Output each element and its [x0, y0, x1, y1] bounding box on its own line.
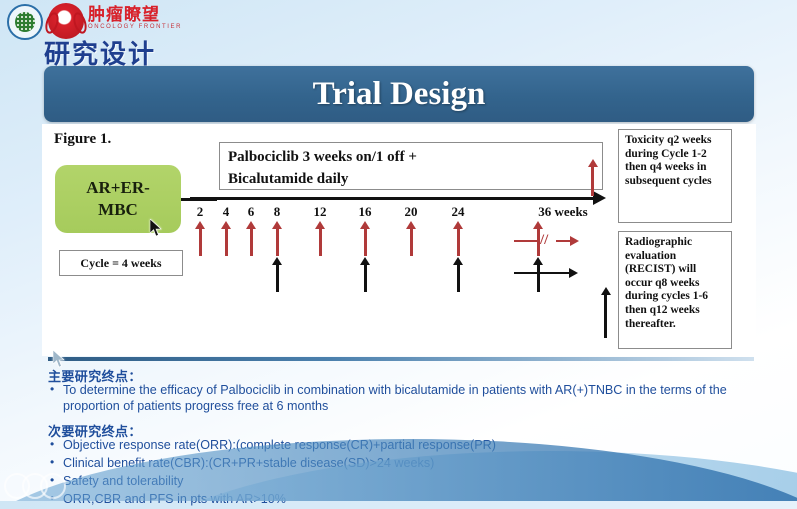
red-break-line-left [514, 240, 540, 242]
timeline-red-arrow [364, 228, 367, 256]
radiographic-assessment-box: Radiographic evaluation (RECIST) will oc… [618, 231, 732, 349]
timeline-break-symbol: // [540, 232, 548, 249]
population-line-1: AR+ER- [86, 177, 150, 199]
timeline-black-arrowhead-icon [272, 257, 282, 265]
population-line-2: MBC [98, 199, 138, 221]
black-connector-arrowhead-icon [569, 268, 578, 278]
secondary-endpoint-item: Clinical benefit rate(CBR):(CR+PR+stable… [48, 455, 748, 471]
timeline-red-arrowhead-icon [315, 221, 325, 229]
slide-root: 肿瘤瞭望 ONCOLOGY FRONTIER 研究设计 Trial Design… [0, 0, 797, 501]
toxicity-pointer-arrowhead-icon [588, 159, 598, 167]
timeline-tick-label: 2 [197, 204, 204, 220]
timeline-axis-arrowhead-icon [593, 191, 606, 205]
timeline-black-arrowhead-icon [533, 257, 543, 265]
secondary-endpoint-item: Objective response rate(ORR):(complete r… [48, 437, 748, 453]
primary-endpoint-list: To determine the efficacy of Palbociclib… [48, 382, 748, 416]
radiographic-pointer-arrow [604, 294, 607, 338]
timeline-tick-label: 6 [248, 204, 255, 220]
timeline-black-arrowhead-icon [453, 257, 463, 265]
secondary-endpoint-item: Safety and tolerability [48, 473, 748, 489]
timeline-tick-label: 20 [405, 204, 418, 220]
timeline-red-arrowhead-icon [533, 221, 543, 229]
red-break-arrowhead-icon [570, 236, 579, 246]
timeline-red-arrow [457, 228, 460, 256]
timeline-tick-label: 4 [223, 204, 230, 220]
timeline-red-arrowhead-icon [453, 221, 463, 229]
radiographic-pointer-arrowhead-icon [601, 287, 611, 295]
timeline-tick-label: 36 weeks [538, 204, 587, 220]
timeline-black-arrowhead-icon [360, 257, 370, 265]
timeline-red-arrow [199, 228, 202, 256]
logo-wordmark: 肿瘤瞭望 [88, 6, 160, 23]
timeline-red-arrowhead-icon [246, 221, 256, 229]
timeline-red-arrowhead-icon [195, 221, 205, 229]
toxicity-assessment-box: Toxicity q2 weeks during Cycle 1-2 then … [618, 129, 732, 223]
cycle-definition-box: Cycle = 4 weeks [59, 250, 183, 276]
timeline-tick-label: 12 [314, 204, 327, 220]
timeline-black-arrow [364, 264, 367, 292]
timeline-black-arrow [537, 264, 540, 292]
timeline-red-arrow [276, 228, 279, 256]
trial-design-banner: Trial Design [44, 66, 754, 122]
seal-inner-pattern [15, 12, 35, 32]
regimen-line-2: Bicalutamide daily [228, 168, 594, 190]
timeline-axis [190, 197, 596, 200]
section-divider [48, 357, 754, 361]
timeline-black-arrow [276, 264, 279, 292]
timeline-red-arrow [225, 228, 228, 256]
logo-wordmark-subtitle: ONCOLOGY FRONTIER [88, 24, 182, 30]
timeline-red-arrow [319, 228, 322, 256]
regimen-line-1: Palbociclib 3 weeks on/1 off + [228, 146, 594, 168]
timeline-red-arrowhead-icon [272, 221, 282, 229]
university-seal-icon [7, 4, 43, 40]
timeline-red-arrowhead-icon [360, 221, 370, 229]
black-connector-line [514, 272, 570, 274]
timeline-black-arrow [457, 264, 460, 292]
timeline-tick-label: 16 [359, 204, 372, 220]
timeline-red-arrow [410, 228, 413, 256]
toxicity-pointer-arrow [591, 166, 594, 196]
regimen-box: Palbociclib 3 weeks on/1 off + Bicalutam… [219, 142, 603, 190]
timeline-red-arrowhead-icon [221, 221, 231, 229]
timeline-red-arrow [250, 228, 253, 256]
figure-label: Figure 1. [54, 131, 111, 148]
primary-endpoint-item: To determine the efficacy of Palbociclib… [48, 382, 748, 414]
secondary-endpoint-list: Objective response rate(ORR):(complete r… [48, 437, 748, 509]
figure-panel: Figure 1. AR+ER- MBC Cycle = 4 weeks Pal… [42, 124, 756, 356]
timeline-tick-label: 24 [452, 204, 465, 220]
banner-title: Trial Design [313, 76, 486, 113]
timeline-red-arrowhead-icon [406, 221, 416, 229]
timeline-tick-label: 8 [274, 204, 281, 220]
secondary-endpoint-item: ORR,CBR and PFS in pts with AR>10% [48, 491, 748, 507]
